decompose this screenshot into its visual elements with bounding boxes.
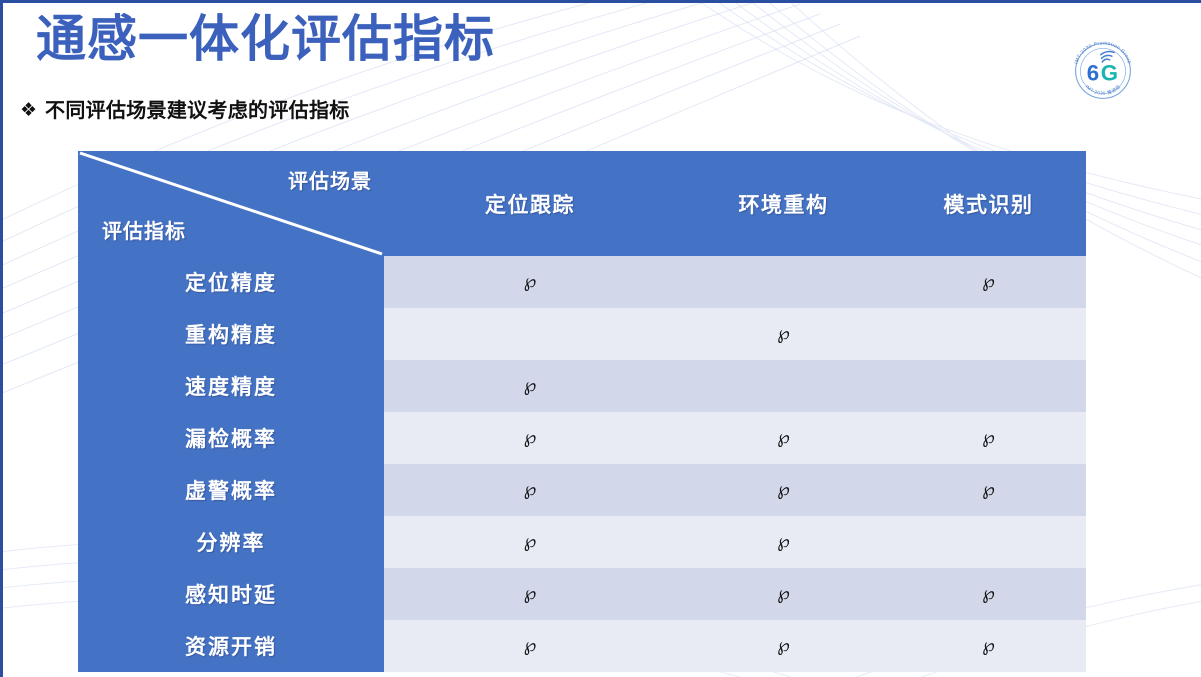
metric-scenario-cell: ℘ [384,412,676,464]
check-mark-icon: ℘ [777,637,790,655]
metric-scenario-cell: ℘ [384,568,676,620]
table-row: 漏检概率℘℘℘ [78,412,1086,464]
metric-scenario-cell [891,308,1086,360]
metric-scenario-cell [891,360,1086,412]
check-mark-icon: ℘ [982,481,995,499]
corner-metric-label: 评估指标 [102,215,186,244]
metric-scenario-cell: ℘ [891,412,1086,464]
check-mark-icon: ℘ [524,273,537,291]
metric-row-label: 感知时延 [78,568,384,620]
check-mark-icon: ℘ [524,429,537,447]
metric-scenario-cell: ℘ [891,620,1086,672]
metric-scenario-cell: ℘ [676,412,891,464]
metric-scenario-cell: ℘ [384,620,676,672]
metric-row-label: 分辨率 [78,516,384,568]
check-mark-icon: ℘ [982,273,995,291]
slide-canvas: 通感一体化评估指标 ❖ 不同评估场景建议考虑的评估指标 IMT-2030 Pro… [0,0,1201,677]
metric-row-label: 漏检概率 [78,412,384,464]
table-row: 速度精度℘ [78,360,1086,412]
metric-row-label: 速度精度 [78,360,384,412]
bullet-heading: ❖ 不同评估场景建议考虑的评估指标 [20,99,350,123]
metric-scenario-cell: ℘ [676,464,891,516]
metric-scenario-cell: ℘ [384,256,676,308]
left-accent-rule [0,0,3,677]
check-mark-icon: ℘ [524,533,537,551]
column-header-scene-3: 模式识别 [891,151,1086,256]
table-row: 重构精度℘ [78,308,1086,360]
metric-scenario-cell [891,516,1086,568]
check-mark-icon: ℘ [982,637,995,655]
check-mark-icon: ℘ [777,325,790,343]
check-mark-icon: ℘ [777,533,790,551]
check-mark-icon: ℘ [777,429,790,447]
svg-text:G: G [1101,61,1118,86]
metric-scenario-cell [676,360,891,412]
metric-scenario-cell: ℘ [384,464,676,516]
metric-scenario-cell: ℘ [384,516,676,568]
table-row: 定位精度℘℘ [78,256,1086,308]
page-title: 通感一体化评估指标 [36,8,495,70]
metric-row-label: 虚警概率 [78,464,384,516]
metric-row-label: 重构精度 [78,308,384,360]
table-row: 分辨率℘℘ [78,516,1086,568]
check-mark-icon: ℘ [524,585,537,603]
check-mark-icon: ℘ [524,637,537,655]
check-mark-icon: ℘ [982,429,995,447]
table-corner-header: 评估场景 评估指标 [78,151,384,256]
metric-scenario-cell: ℘ [676,308,891,360]
metric-scenario-cell: ℘ [891,256,1086,308]
metric-scenario-cell: ℘ [384,360,676,412]
corner-scene-label: 评估场景 [288,165,372,194]
table-row: 虚警概率℘℘℘ [78,464,1086,516]
table-row: 资源开销℘℘℘ [78,620,1086,672]
metric-scenario-cell: ℘ [676,568,891,620]
table-body: 定位精度℘℘重构精度℘速度精度℘漏检概率℘℘℘虚警概率℘℘℘分辨率℘℘感知时延℘… [78,256,1086,672]
column-header-scene-2: 环境重构 [676,151,891,256]
column-header-scene-1: 定位跟踪 [384,151,676,256]
check-mark-icon: ℘ [524,377,537,395]
metric-scenario-cell: ℘ [676,620,891,672]
imt-2030-promotion-group-logo: IMT-2030 Promotion Group IMT-2030 推进组 6 … [1066,34,1140,108]
table-header-row: 评估场景 评估指标 定位跟踪 环境重构 模式识别 [78,151,1086,256]
check-mark-icon: ℘ [982,585,995,603]
metric-row-label: 定位精度 [78,256,384,308]
check-mark-icon: ℘ [777,481,790,499]
metric-row-label: 资源开销 [78,620,384,672]
svg-text:6: 6 [1087,61,1099,86]
diamond-bullet-icon: ❖ [20,100,37,122]
table-row: 感知时延℘℘℘ [78,568,1086,620]
check-mark-icon: ℘ [524,481,537,499]
evaluation-metrics-table: 评估场景 评估指标 定位跟踪 环境重构 模式识别 定位精度℘℘重构精度℘速度精度… [78,151,1086,672]
check-mark-icon: ℘ [777,585,790,603]
bullet-heading-label: 不同评估场景建议考虑的评估指标 [45,99,350,123]
metric-scenario-cell [676,256,891,308]
metric-scenario-cell: ℘ [676,516,891,568]
top-accent-rule [0,0,1201,3]
metric-scenario-cell: ℘ [891,568,1086,620]
metric-scenario-cell [384,308,676,360]
metric-scenario-cell: ℘ [891,464,1086,516]
